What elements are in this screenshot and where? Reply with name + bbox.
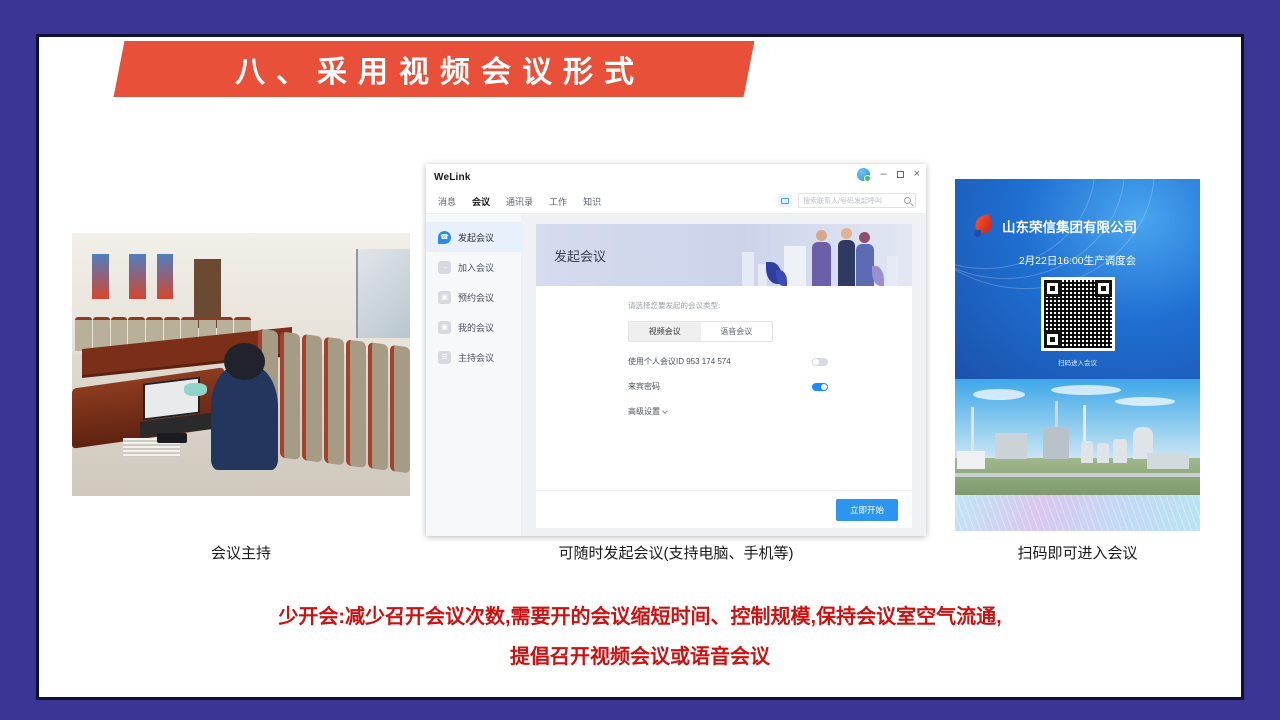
tab-messages[interactable]: 消息 [438, 195, 456, 208]
advanced-settings-row[interactable]: 高级设置 [628, 406, 912, 417]
conference-room-photo [72, 233, 410, 496]
sidebar-item-label: 加入会议 [458, 261, 494, 274]
slogan-block: 少开会:减少召开会议次数,需要开的会议缩短时间、控制规模,保持会议室空气流通, … [39, 597, 1241, 677]
photo-phone [157, 433, 187, 444]
qr-top-section: 山东荣信集团有限公司 2月22日16:00生产调度会 扫码进入会议 [955, 179, 1200, 379]
slide-title-banner: 八、采用视频会议形式 [114, 41, 755, 97]
card-footer: 立即开始 [536, 490, 912, 528]
advanced-settings-label: 高级设置 [628, 406, 660, 417]
company-brand-row: 山东荣信集团有限公司 [973, 215, 1137, 237]
photo-poster [92, 254, 109, 299]
nav-right-group: 搜索联系人/号码发起呼叫 [778, 193, 916, 208]
screen-share-icon[interactable] [778, 194, 792, 207]
page-title: 八、采用视频会议形式 [224, 47, 645, 91]
minimize-button[interactable]: – [880, 169, 886, 180]
welink-sidebar: ☎ 发起会议 → 加入会议 ▣ 预约会议 ▣ 我的会议 ☰ 主持会议 [426, 214, 522, 536]
sidebar-item-label: 我的会议 [458, 321, 494, 334]
personal-meeting-id-row: 使用个人会议ID 953 174 574 [628, 356, 828, 367]
welink-nav-tabs: 消息 会议 通讯录 工作 知识 搜索联系人/号码发起呼叫 [426, 190, 926, 214]
sidebar-item-start-meeting[interactable]: ☎ 发起会议 [426, 222, 521, 252]
welink-main-panel: 发起会议 [522, 214, 926, 536]
search-icon[interactable] [904, 197, 911, 204]
tab-work[interactable]: 工作 [549, 195, 567, 208]
welink-body: ☎ 发起会议 → 加入会议 ▣ 预约会议 ▣ 我的会议 ☰ 主持会议 [426, 214, 926, 536]
welink-app-window: WeLink – × 消息 会议 通讯录 工作 知识 搜索联系人/号码发起呼叫 [426, 164, 926, 536]
welink-titlebar: WeLink – × [426, 164, 926, 190]
caption-center: 可随时发起会议(支持电脑、手机等) [426, 542, 926, 563]
photo-chairs-right [258, 329, 410, 474]
sidebar-item-book-meeting[interactable]: ▣ 预约会议 [426, 282, 521, 312]
host-icon: ☰ [438, 351, 451, 364]
meeting-info: 2月22日16:00生产调度会 [955, 253, 1200, 268]
sidebar-item-label: 主持会议 [458, 351, 494, 364]
scan-hint: 扫码进入会议 [955, 357, 1200, 367]
meeting-illustration [736, 224, 906, 286]
start-meeting-card: 发起会议 [536, 224, 912, 528]
chevron-down-icon [662, 408, 668, 414]
factory-photo [955, 379, 1200, 531]
slogan-line-1: 少开会:减少召开会议次数,需要开的会议缩短时间、控制规模,保持会议室空气流通, [278, 606, 1001, 628]
tab-contacts[interactable]: 通讯录 [506, 195, 533, 208]
company-logo-icon [973, 215, 995, 237]
audio-meeting-option[interactable]: 语音会议 [701, 322, 773, 341]
meeting-type-label: 请选择您要发起的会议类型: [628, 300, 912, 311]
guest-password-row: 来宾密码 [628, 381, 828, 392]
sidebar-item-my-meetings[interactable]: ▣ 我的会议 [426, 312, 521, 342]
photo-window [356, 249, 410, 338]
close-button[interactable]: × [914, 169, 920, 180]
qr-invite-panel: 山东荣信集团有限公司 2月22日16:00生产调度会 扫码进入会议 [955, 179, 1200, 531]
card-title: 发起会议 [554, 246, 606, 265]
slogan-line-2: 提倡召开视频会议或语音会议 [39, 637, 1241, 677]
photo-person [211, 365, 279, 470]
start-meeting-button[interactable]: 立即开始 [836, 499, 898, 521]
photo-poster [129, 254, 146, 299]
personal-meeting-id-toggle[interactable] [812, 358, 828, 366]
photo-face-mask [184, 383, 208, 396]
maximize-button[interactable] [897, 171, 904, 178]
sidebar-item-label: 发起会议 [458, 231, 494, 244]
window-controls: – × [857, 168, 920, 181]
company-name: 山东荣信集团有限公司 [1002, 216, 1137, 236]
photo-person-head [224, 343, 265, 380]
tab-meetings[interactable]: 会议 [472, 195, 490, 208]
search-placeholder: 搜索联系人/号码发起呼叫 [803, 196, 902, 206]
sidebar-item-join-meeting[interactable]: → 加入会议 [426, 252, 521, 282]
card-hero: 发起会议 [536, 224, 912, 286]
calendar-icon: ▣ [438, 321, 451, 334]
card-form: 请选择您要发起的会议类型: 视频会议 语音会议 使用个人会议ID 953 174… [536, 286, 912, 490]
caption-left: 会议主持 [72, 542, 410, 563]
calendar-icon: ▣ [438, 291, 451, 304]
search-input[interactable]: 搜索联系人/号码发起呼叫 [798, 193, 916, 208]
app-name: WeLink [434, 172, 471, 183]
start-meeting-icon: ☎ [438, 231, 451, 244]
qr-code-image[interactable] [1041, 277, 1115, 351]
tab-knowledge[interactable]: 知识 [583, 195, 601, 208]
caption-right: 扫码即可进入会议 [955, 542, 1200, 563]
personal-meeting-id-label: 使用个人会议ID 953 174 574 [628, 356, 731, 367]
guest-password-toggle[interactable] [812, 383, 828, 391]
slide-sheet: 八、采用视频会议形式 WeLink – [36, 34, 1244, 700]
join-meeting-icon: → [438, 261, 451, 274]
video-meeting-option[interactable]: 视频会议 [629, 322, 701, 341]
guest-password-label: 来宾密码 [628, 381, 660, 392]
avatar[interactable] [857, 168, 870, 181]
photo-gradient-band [955, 495, 1200, 531]
sidebar-item-host-meeting[interactable]: ☰ 主持会议 [426, 342, 521, 372]
photo-poster [157, 254, 174, 299]
sidebar-item-label: 预约会议 [458, 291, 494, 304]
meeting-type-switch[interactable]: 视频会议 语音会议 [628, 321, 773, 342]
